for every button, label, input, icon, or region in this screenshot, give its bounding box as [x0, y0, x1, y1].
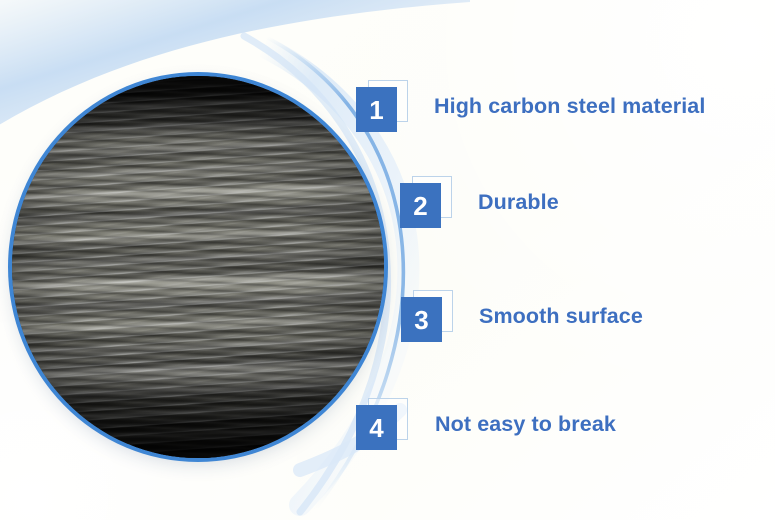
badge-filled-square-4: 4: [356, 405, 397, 450]
badge-number-3: 3: [414, 307, 428, 333]
infographic-canvas: 1 High carbon steel material 2 Durable 3…: [0, 0, 775, 520]
number-badge-3: 3: [401, 290, 455, 342]
feature-label-2: Durable: [478, 190, 559, 215]
badge-number-4: 4: [369, 415, 383, 441]
number-badge-2: 2: [400, 176, 454, 228]
number-badge-1: 1: [356, 80, 410, 132]
photo-vignette: [12, 76, 384, 458]
feature-label-4: Not easy to break: [435, 412, 616, 437]
product-photo-circle: [12, 76, 384, 458]
steel-wire-texture: [12, 76, 384, 458]
feature-label-3: Smooth surface: [479, 304, 643, 329]
badge-filled-square-3: 3: [401, 297, 442, 342]
feature-item-3: 3 Smooth surface: [401, 290, 643, 342]
feature-item-4: 4 Not easy to break: [356, 398, 616, 450]
badge-number-1: 1: [369, 97, 383, 123]
feature-label-1: High carbon steel material: [434, 94, 705, 119]
badge-filled-square-1: 1: [356, 87, 397, 132]
number-badge-4: 4: [356, 398, 410, 450]
feature-item-1: 1 High carbon steel material: [356, 80, 705, 132]
badge-filled-square-2: 2: [400, 183, 441, 228]
badge-number-2: 2: [413, 193, 427, 219]
feature-item-2: 2 Durable: [400, 176, 559, 228]
